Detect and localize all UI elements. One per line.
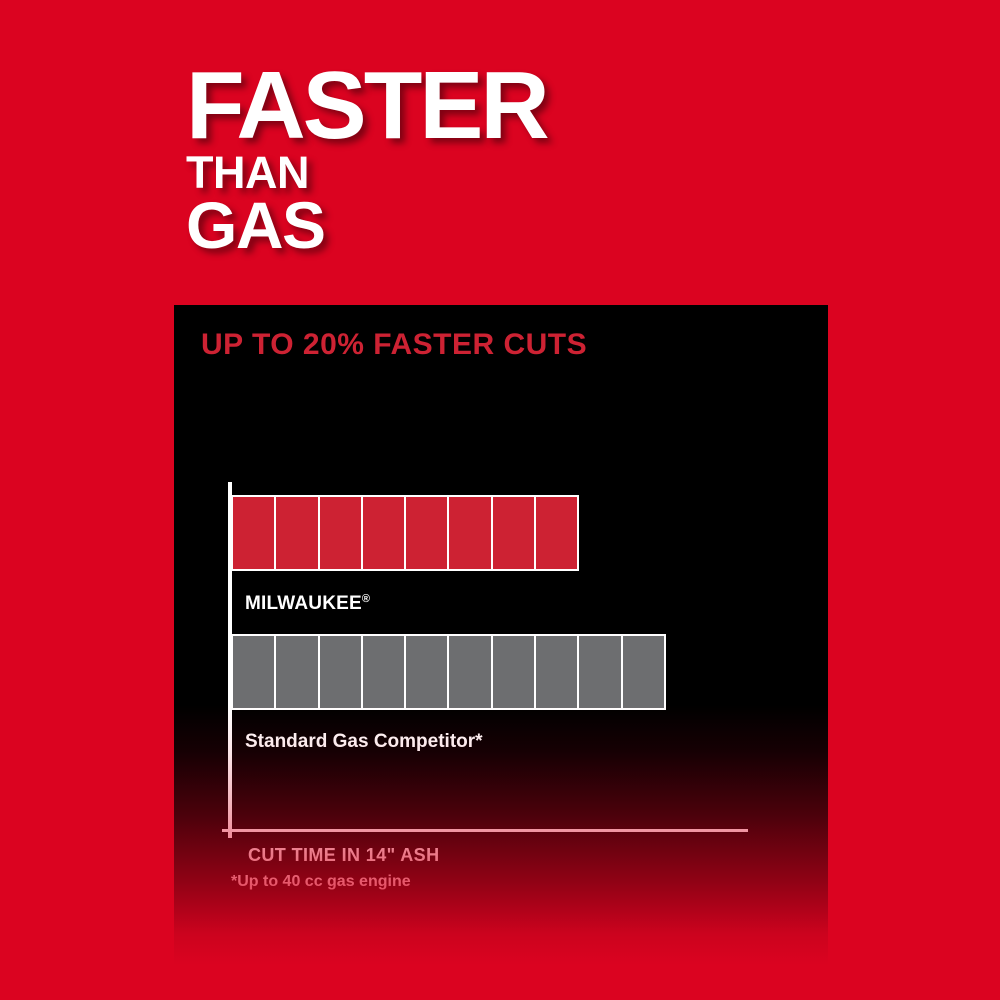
- footnote: *Up to 40 cc gas engine: [231, 873, 411, 891]
- bar-label-milwaukee: MILWAUKEE®: [245, 593, 370, 615]
- bar-segment: [449, 636, 492, 708]
- bar-segment: [536, 636, 579, 708]
- bar-segment: [320, 636, 363, 708]
- bar-competitor: [231, 634, 666, 710]
- bar-segment: [623, 636, 664, 708]
- bar-segment: [276, 636, 319, 708]
- bar-segment: [406, 636, 449, 708]
- chart-panel: UP TO 20% FASTER CUTS MILWAUKEE®: [174, 305, 828, 965]
- bar-segment: [320, 497, 363, 569]
- x-axis-line: [222, 829, 748, 832]
- bar-label-milwaukee-text: MILWAUKEE: [245, 593, 362, 614]
- headline-block: FASTER THAN GAS: [186, 62, 886, 255]
- bar-segment: [233, 636, 276, 708]
- bar-segment: [449, 497, 492, 569]
- registered-trademark-icon: ®: [362, 593, 370, 605]
- headline-line-faster: FASTER: [186, 62, 886, 150]
- bar-label-competitor: Standard Gas Competitor*: [245, 731, 483, 753]
- bar-segment: [233, 497, 276, 569]
- bar-segment: [579, 636, 622, 708]
- bar-segment: [363, 636, 406, 708]
- bar-segment: [363, 497, 406, 569]
- bar-segment: [493, 497, 536, 569]
- bar-segment: [536, 497, 577, 569]
- bar-milwaukee: [231, 495, 579, 571]
- bar-segment: [493, 636, 536, 708]
- bar-segment: [276, 497, 319, 569]
- headline-line-gas: GAS: [186, 195, 886, 256]
- plot-area: MILWAUKEE® Standard Gas Competitor* CUT …: [174, 305, 828, 965]
- bar-segment: [406, 497, 449, 569]
- x-axis-caption: CUT TIME IN 14" ASH: [248, 845, 440, 866]
